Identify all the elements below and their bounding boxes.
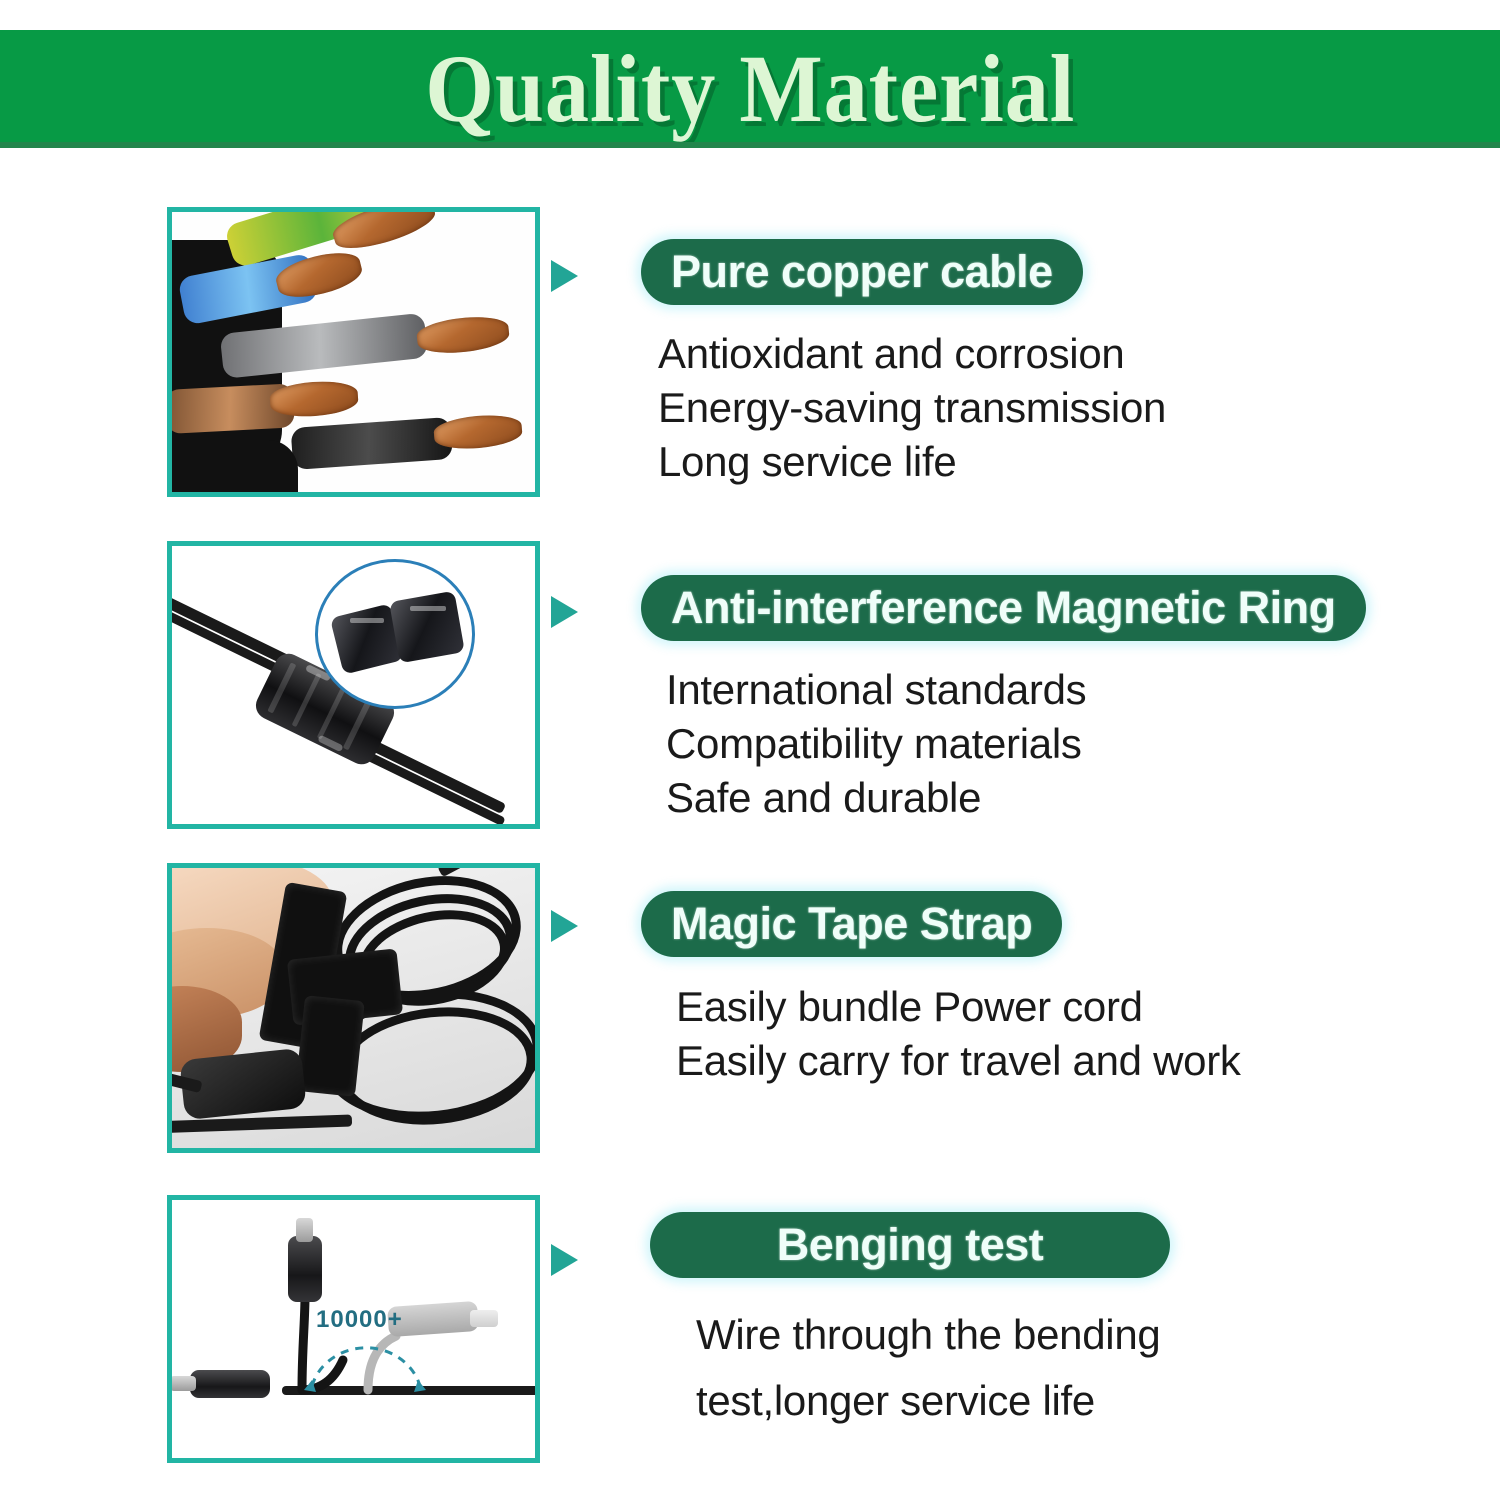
header-banner: Quality Material — [0, 30, 1500, 148]
feature-title-text-1: Pure copper cable — [671, 249, 1053, 295]
copper-cable-photo — [167, 207, 540, 497]
feature-bullet: test,longer service life — [696, 1368, 1160, 1434]
feature-bullets-4: Wire through the bending test,longer ser… — [696, 1302, 1160, 1434]
feature-bullet: Compatibility materials — [666, 717, 1086, 771]
barrel-plug-top — [288, 1236, 322, 1302]
feature-title-text-4: Benging test — [777, 1222, 1044, 1268]
feature-bullet: Easily carry for travel and work — [676, 1034, 1241, 1088]
magnetic-ring-photo — [167, 541, 540, 829]
feature-bullet: Easily bundle Power cord — [676, 980, 1241, 1034]
feature-arrow-3 — [551, 910, 578, 942]
feature-bullets-3: Easily bundle Power cord Easily carry fo… — [676, 980, 1241, 1088]
feature-title-pill-1: Pure copper cable — [641, 239, 1083, 305]
header-underline — [0, 142, 1500, 148]
infographic-page: Quality Material — [0, 0, 1500, 1500]
page-title: Quality Material — [425, 39, 1075, 139]
feature-title-text-3: Magic Tape Strap — [671, 901, 1032, 947]
feature-bullets-1: Antioxidant and corrosion Energy-saving … — [658, 327, 1166, 489]
magic-tape-strap-photo — [167, 863, 540, 1153]
feature-arrow-2 — [551, 596, 578, 628]
feature-arrow-4 — [551, 1244, 578, 1276]
bend-cycle-label: 10000+ — [316, 1306, 403, 1334]
feature-title-text-2: Anti-interference Magnetic Ring — [671, 585, 1336, 631]
bending-test-diagram: 10000+ — [167, 1195, 540, 1463]
feature-bullet: Wire through the bending — [696, 1302, 1160, 1368]
copper-cable-artwork — [172, 212, 535, 492]
feature-title-pill-3: Magic Tape Strap — [641, 891, 1062, 957]
feature-bullet: Energy-saving transmission — [658, 381, 1166, 435]
feature-bullet: Antioxidant and corrosion — [658, 327, 1166, 381]
feature-arrow-1 — [551, 260, 578, 292]
feature-title-pill-4: Benging test — [650, 1212, 1170, 1278]
feature-bullet: Safe and durable — [666, 771, 1086, 825]
feature-bullet: Long service life — [658, 435, 1166, 489]
feature-bullet: International standards — [666, 663, 1086, 717]
feature-title-pill-2: Anti-interference Magnetic Ring — [641, 575, 1366, 641]
feature-bullets-2: International standards Compatibility ma… — [666, 663, 1086, 825]
ferrite-inset-circle — [315, 559, 475, 709]
